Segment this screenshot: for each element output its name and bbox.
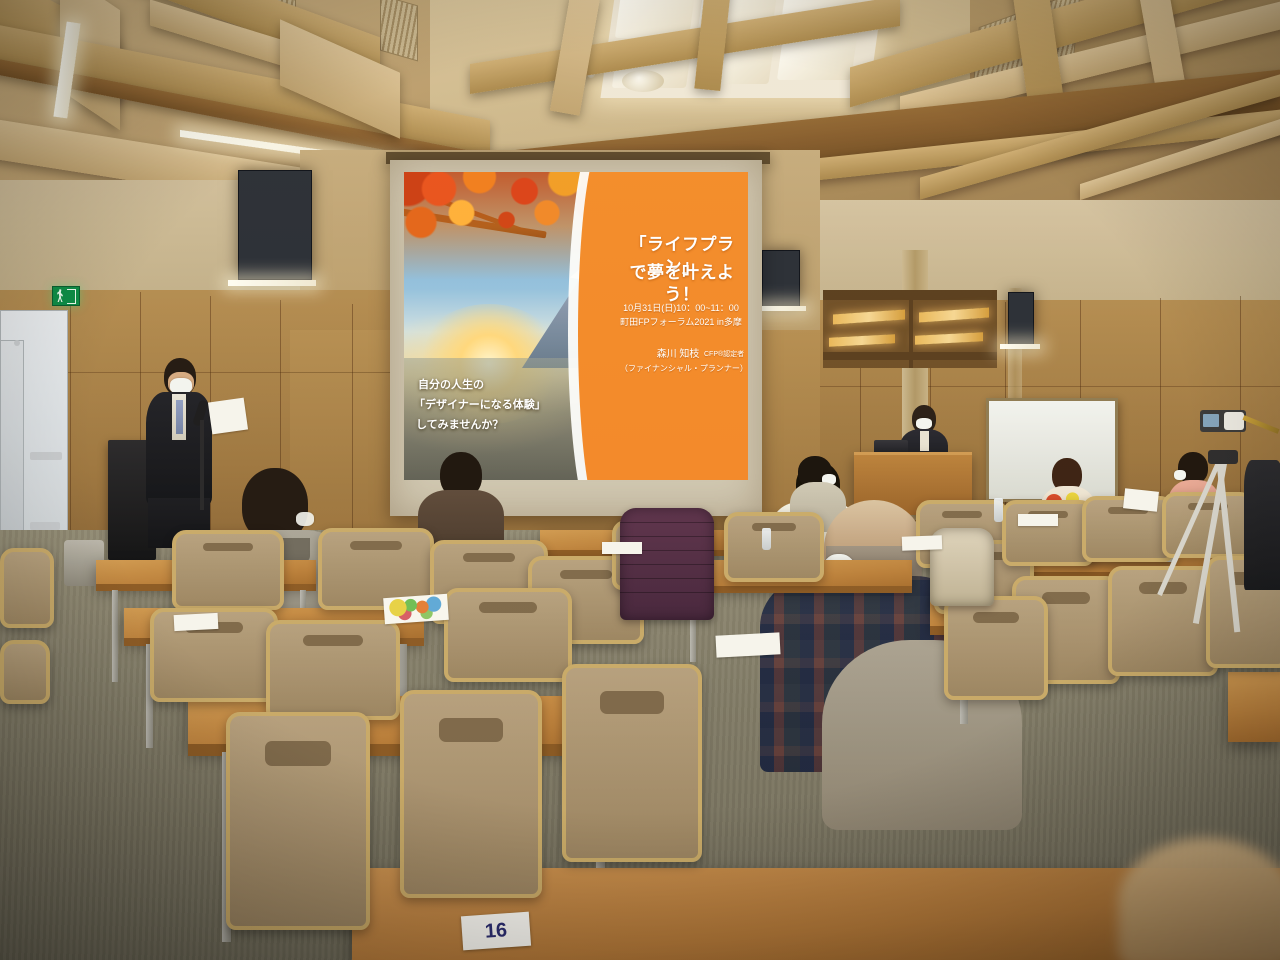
decorative-lattice-panel (823, 290, 997, 368)
slide-presenter-role: （ファイナンシャル・プランナー） (620, 364, 746, 375)
chair[interactable] (1002, 500, 1086, 558)
slide-presenter-cert: CFP®認定者 (704, 350, 746, 359)
slide-presenter-name: 森川 知枝 (648, 348, 708, 362)
table-number-card: 16 (461, 912, 531, 951)
chair[interactable] (400, 690, 534, 890)
water-bottle (994, 498, 1003, 522)
chair[interactable] (0, 640, 42, 696)
handout (1123, 488, 1159, 511)
standing-attendee-far-right (1244, 460, 1280, 620)
presentation-slide: 「ライフプラン」 で夢を叶えよう！ 10月31日(日)10：00~11：00 町… (404, 172, 748, 480)
chair[interactable] (562, 664, 694, 854)
slide-headline-line2: で夢を叶えよう！ (620, 262, 744, 306)
handout (1018, 514, 1058, 526)
handout (602, 542, 642, 554)
slide-datetime: 10月31日(日)10：00~11：00 (618, 302, 744, 314)
purple-down-jacket (620, 508, 714, 620)
ceiling-speaker-dome (622, 70, 664, 92)
handout (383, 594, 449, 624)
chair[interactable] (318, 528, 426, 602)
wall-speaker-left (238, 170, 312, 280)
handout (174, 613, 219, 631)
slide-left-line1: 自分の人生の (418, 378, 484, 394)
mc-script-paper (208, 398, 248, 435)
slide-left-line3: してみませんか？ (416, 418, 503, 434)
handout (902, 535, 942, 550)
hvac-vent (380, 0, 418, 61)
chair[interactable] (172, 530, 276, 602)
slide-event-name: 町田FPフォーラム2021 in多摩 (618, 316, 744, 328)
chair[interactable] (266, 620, 392, 712)
slide-left-line2: 「デザイナーになる体験」 (414, 398, 546, 414)
table-far-right-edge (1228, 672, 1280, 742)
side-door-panel (0, 340, 24, 548)
chair[interactable] (226, 712, 362, 922)
chair[interactable] (444, 588, 564, 674)
wall-speaker-right (1008, 292, 1034, 346)
chair[interactable] (944, 596, 1040, 692)
seminar-room-photo: 「ライフプラン」 で夢を叶えよう！ 10月31日(日)10：00~11：00 町… (0, 0, 1280, 960)
video-camera (1200, 410, 1246, 432)
water-bottle (762, 528, 771, 550)
wall-speaker-center (762, 250, 800, 308)
chair[interactable] (0, 548, 46, 620)
handout (715, 632, 780, 657)
emergency-exit-sign (52, 286, 80, 306)
